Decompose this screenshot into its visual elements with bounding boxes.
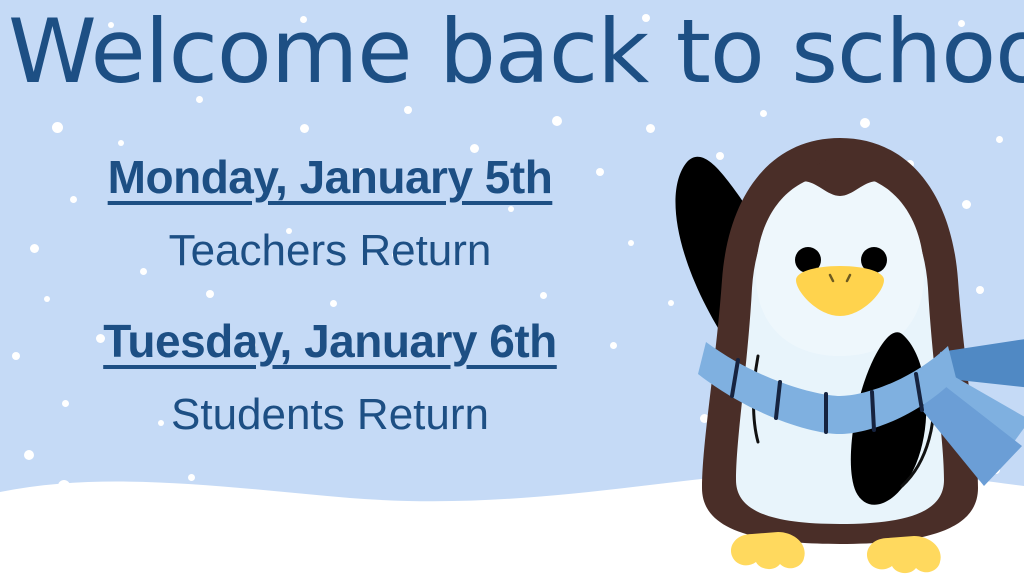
snowflake-icon (300, 124, 309, 133)
announcement-date: Monday, January 5th (0, 150, 660, 204)
announcement-detail: Teachers Return (0, 226, 660, 276)
announcement-detail: Students Return (0, 390, 660, 440)
snowflake-icon (760, 110, 767, 117)
snowflake-icon (118, 140, 124, 146)
penguin-face-patch (756, 174, 924, 356)
snowflake-icon (58, 480, 70, 492)
snowflake-icon (552, 116, 562, 126)
penguin-foot-left (731, 532, 805, 569)
page-title: Welcome back to school! (8, 0, 1024, 108)
announcement-date: Tuesday, January 6th (0, 314, 660, 368)
penguin-illustration (640, 120, 1024, 575)
snowflake-icon (24, 450, 34, 460)
snowflake-icon (52, 122, 63, 133)
poster-canvas: Welcome back to school! Monday, January … (0, 0, 1024, 575)
snowflake-icon (188, 474, 195, 481)
announcement-list: Monday, January 5th Teachers Return Tues… (0, 150, 660, 440)
penguin-foot-right (867, 536, 941, 573)
